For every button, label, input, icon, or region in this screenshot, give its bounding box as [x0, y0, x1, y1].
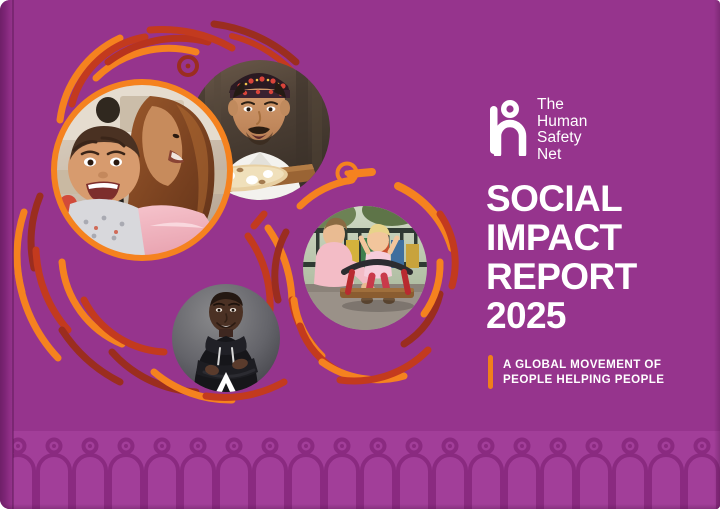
pattern-dot-core [268, 444, 272, 448]
cover-artwork [0, 0, 470, 430]
tagline-block: A GLOBAL MOVEMENT OF PEOPLE HELPING PEOP… [488, 355, 693, 389]
pattern-dot-core [628, 444, 632, 448]
pattern-dot-core [196, 444, 200, 448]
tagline: A GLOBAL MOVEMENT OF PEOPLE HELPING PEOP… [503, 357, 665, 387]
photo-mother-and-laughing-toddler [54, 82, 230, 262]
cover-text-column: The Human Safety Net SOCIAL IMPACT REPOR… [488, 96, 693, 389]
title-line-2: IMPACT [486, 218, 693, 257]
pattern-dot-core [664, 444, 668, 448]
pattern-dot-core [484, 444, 488, 448]
pattern-dot-core [340, 444, 344, 448]
pattern-dot-core [232, 444, 236, 448]
pattern-dot-core [52, 444, 56, 448]
pattern-dot-core [16, 444, 20, 448]
brand-lockup: The Human Safety Net [488, 96, 693, 163]
brand-name: The Human Safety Net [537, 96, 587, 163]
arch-and-dot-pattern [0, 431, 720, 509]
pattern-dot-core [304, 444, 308, 448]
brand-name-line-4: Net [537, 147, 587, 164]
tagline-accent-bar [488, 355, 493, 389]
brand-name-line-1: The [537, 97, 587, 114]
ring-maroon-top [179, 57, 197, 75]
pattern-dot-core [700, 444, 704, 448]
title-line-4-year: 2025 [486, 296, 693, 335]
report-cover: The Human Safety Net SOCIAL IMPACT REPOR… [0, 0, 720, 509]
brand-name-line-2: Human [537, 114, 587, 131]
title-line-1: SOCIAL [486, 179, 693, 218]
tagline-line-2: PEOPLE HELPING PEOPLE [503, 372, 665, 387]
pattern-dot-core [88, 444, 92, 448]
photo-man-in-black-hoodie [170, 282, 282, 396]
pattern-dot-core [520, 444, 524, 448]
tagline-line-1: A GLOBAL MOVEMENT OF [503, 357, 665, 372]
page-title: SOCIAL IMPACT REPORT 2025 [486, 179, 693, 335]
photo-carer-and-child-on-playground [303, 194, 427, 330]
human-figure-h-logo-icon [488, 96, 528, 156]
pattern-dot-core [124, 444, 128, 448]
title-line-3: REPORT [486, 257, 693, 296]
brand-name-line-3: Safety [537, 130, 587, 147]
pattern-dot-core [412, 444, 416, 448]
pattern-dot-core [376, 444, 380, 448]
pattern-dot-core [160, 444, 164, 448]
pattern-dot-core [592, 444, 596, 448]
pattern-dot-core [448, 444, 452, 448]
pattern-dot-core [556, 444, 560, 448]
